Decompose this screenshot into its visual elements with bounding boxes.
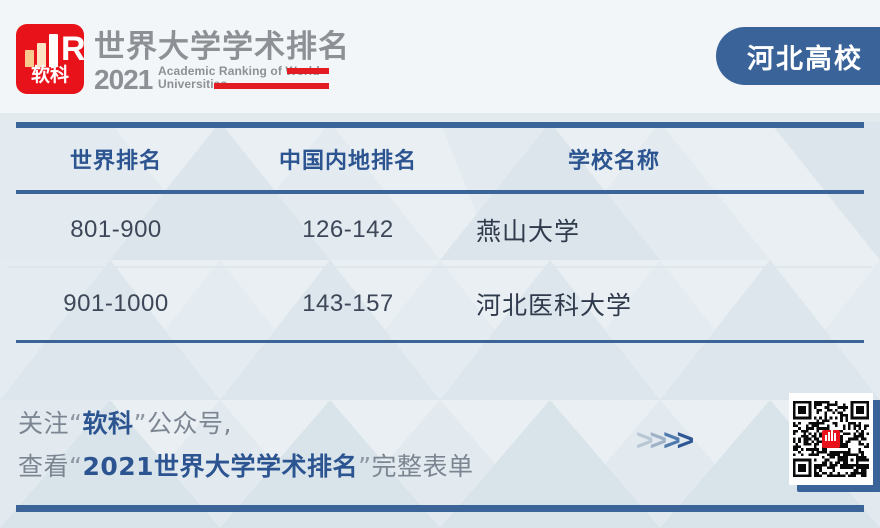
column-header-university: 学校名称 — [464, 143, 764, 175]
page-header: R 软科 世界大学学术排名 2021 Academic Ranking of W… — [0, 0, 880, 122]
page-bottom-rule — [16, 505, 864, 512]
cell-china-rank: 126-142 — [232, 216, 464, 244]
quote-close: ” — [358, 452, 371, 481]
cell-university-name: 河北医科大学 — [464, 286, 880, 322]
logo-chinese-mark: 软科 — [16, 60, 84, 87]
table-row: 901-1000 143-157 河北医科大学 — [0, 268, 880, 340]
quote-open: “ — [69, 452, 82, 481]
column-header-china-rank: 中国内地排名 — [232, 143, 464, 175]
cell-china-rank: 143-157 — [232, 290, 464, 318]
cell-world-rank: 801-900 — [0, 216, 232, 244]
footer-line-1: 关注“软科”公众号, — [18, 402, 538, 445]
table-header-row: 世界排名 中国内地排名 学校名称 — [0, 128, 880, 190]
footer-line-2: 查看“2021世界大学学术排名”完整表单 — [18, 445, 538, 488]
ruanke-logo-icon — [822, 430, 840, 448]
footer-call-to-action: 关注“软科”公众号, 查看“2021世界大学学术排名”完整表单 — [18, 402, 538, 488]
footer-line2-highlight: 2021世界大学学术排名 — [82, 452, 358, 481]
footer-line1-prefix: 关注 — [18, 409, 69, 438]
page-title: 世界大学学术排名 — [94, 21, 350, 66]
quote-close: ” — [133, 409, 146, 438]
footer-line1-suffix: 公众号, — [147, 409, 232, 438]
cell-university-name: 燕山大学 — [464, 212, 880, 248]
chevron-right-icon-group: > > > > — [640, 426, 694, 456]
decor-red-bar-bottom — [214, 83, 329, 89]
cell-world-rank: 901-1000 — [0, 290, 232, 318]
infographic-card: R 软科 世界大学学术排名 2021 Academic Ranking of W… — [0, 0, 880, 528]
ranking-table: 世界排名 中国内地排名 学校名称 801-900 126-142 燕山大学 90… — [0, 122, 880, 343]
table-row: 801-900 126-142 燕山大学 — [0, 194, 880, 266]
edition-year: 2021 — [94, 64, 152, 96]
ruanke-logo: R 软科 — [16, 24, 84, 94]
footer-line1-highlight: 软科 — [82, 409, 133, 438]
footer-line2-suffix: 完整表单 — [372, 452, 474, 481]
footer-line2-prefix: 查看 — [18, 452, 69, 481]
column-header-world-rank: 世界排名 — [0, 143, 232, 175]
quote-open: “ — [69, 409, 82, 438]
qr-code[interactable] — [789, 393, 873, 485]
decor-red-bar-top — [287, 68, 329, 74]
table-bottom-rule — [16, 340, 864, 343]
region-badge: 河北高校 — [716, 27, 880, 85]
chevron-right-icon: > — [677, 426, 695, 456]
